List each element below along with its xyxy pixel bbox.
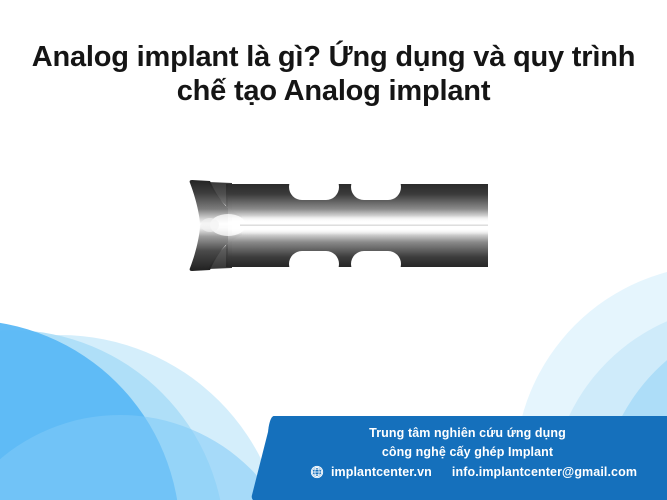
page-title-line-1: Analog implant là gì? Ứng dụng và quy tr…: [0, 40, 667, 74]
page-title: Analog implant là gì? Ứng dụng và quy tr…: [0, 40, 667, 108]
page-title-line-2: chế tạo Analog implant: [0, 74, 667, 108]
globe-icon: [310, 465, 324, 479]
decor-blob-left-bright: [0, 320, 180, 500]
decor-blob-left-accent: [0, 415, 305, 500]
footer-line-1: Trung tâm nghiên cứu ứng dụng: [268, 424, 667, 443]
footer-contact-row: implantcenter.vn info.implantcenter@gmai…: [268, 465, 667, 479]
decor-blob-left-light: [0, 330, 225, 500]
implant-analog-icon: [188, 178, 488, 273]
footer-content: Trung tâm nghiên cứu ứng dụng công nghệ …: [268, 424, 667, 479]
decor-blob-left-pale: [0, 335, 285, 500]
footer-line-2: công nghệ cấy ghép Implant: [268, 443, 667, 462]
dental-implant-analog-image: [188, 178, 488, 273]
footer-website[interactable]: implantcenter.vn: [331, 465, 432, 479]
footer-email[interactable]: info.implantcenter@gmail.com: [452, 465, 637, 479]
